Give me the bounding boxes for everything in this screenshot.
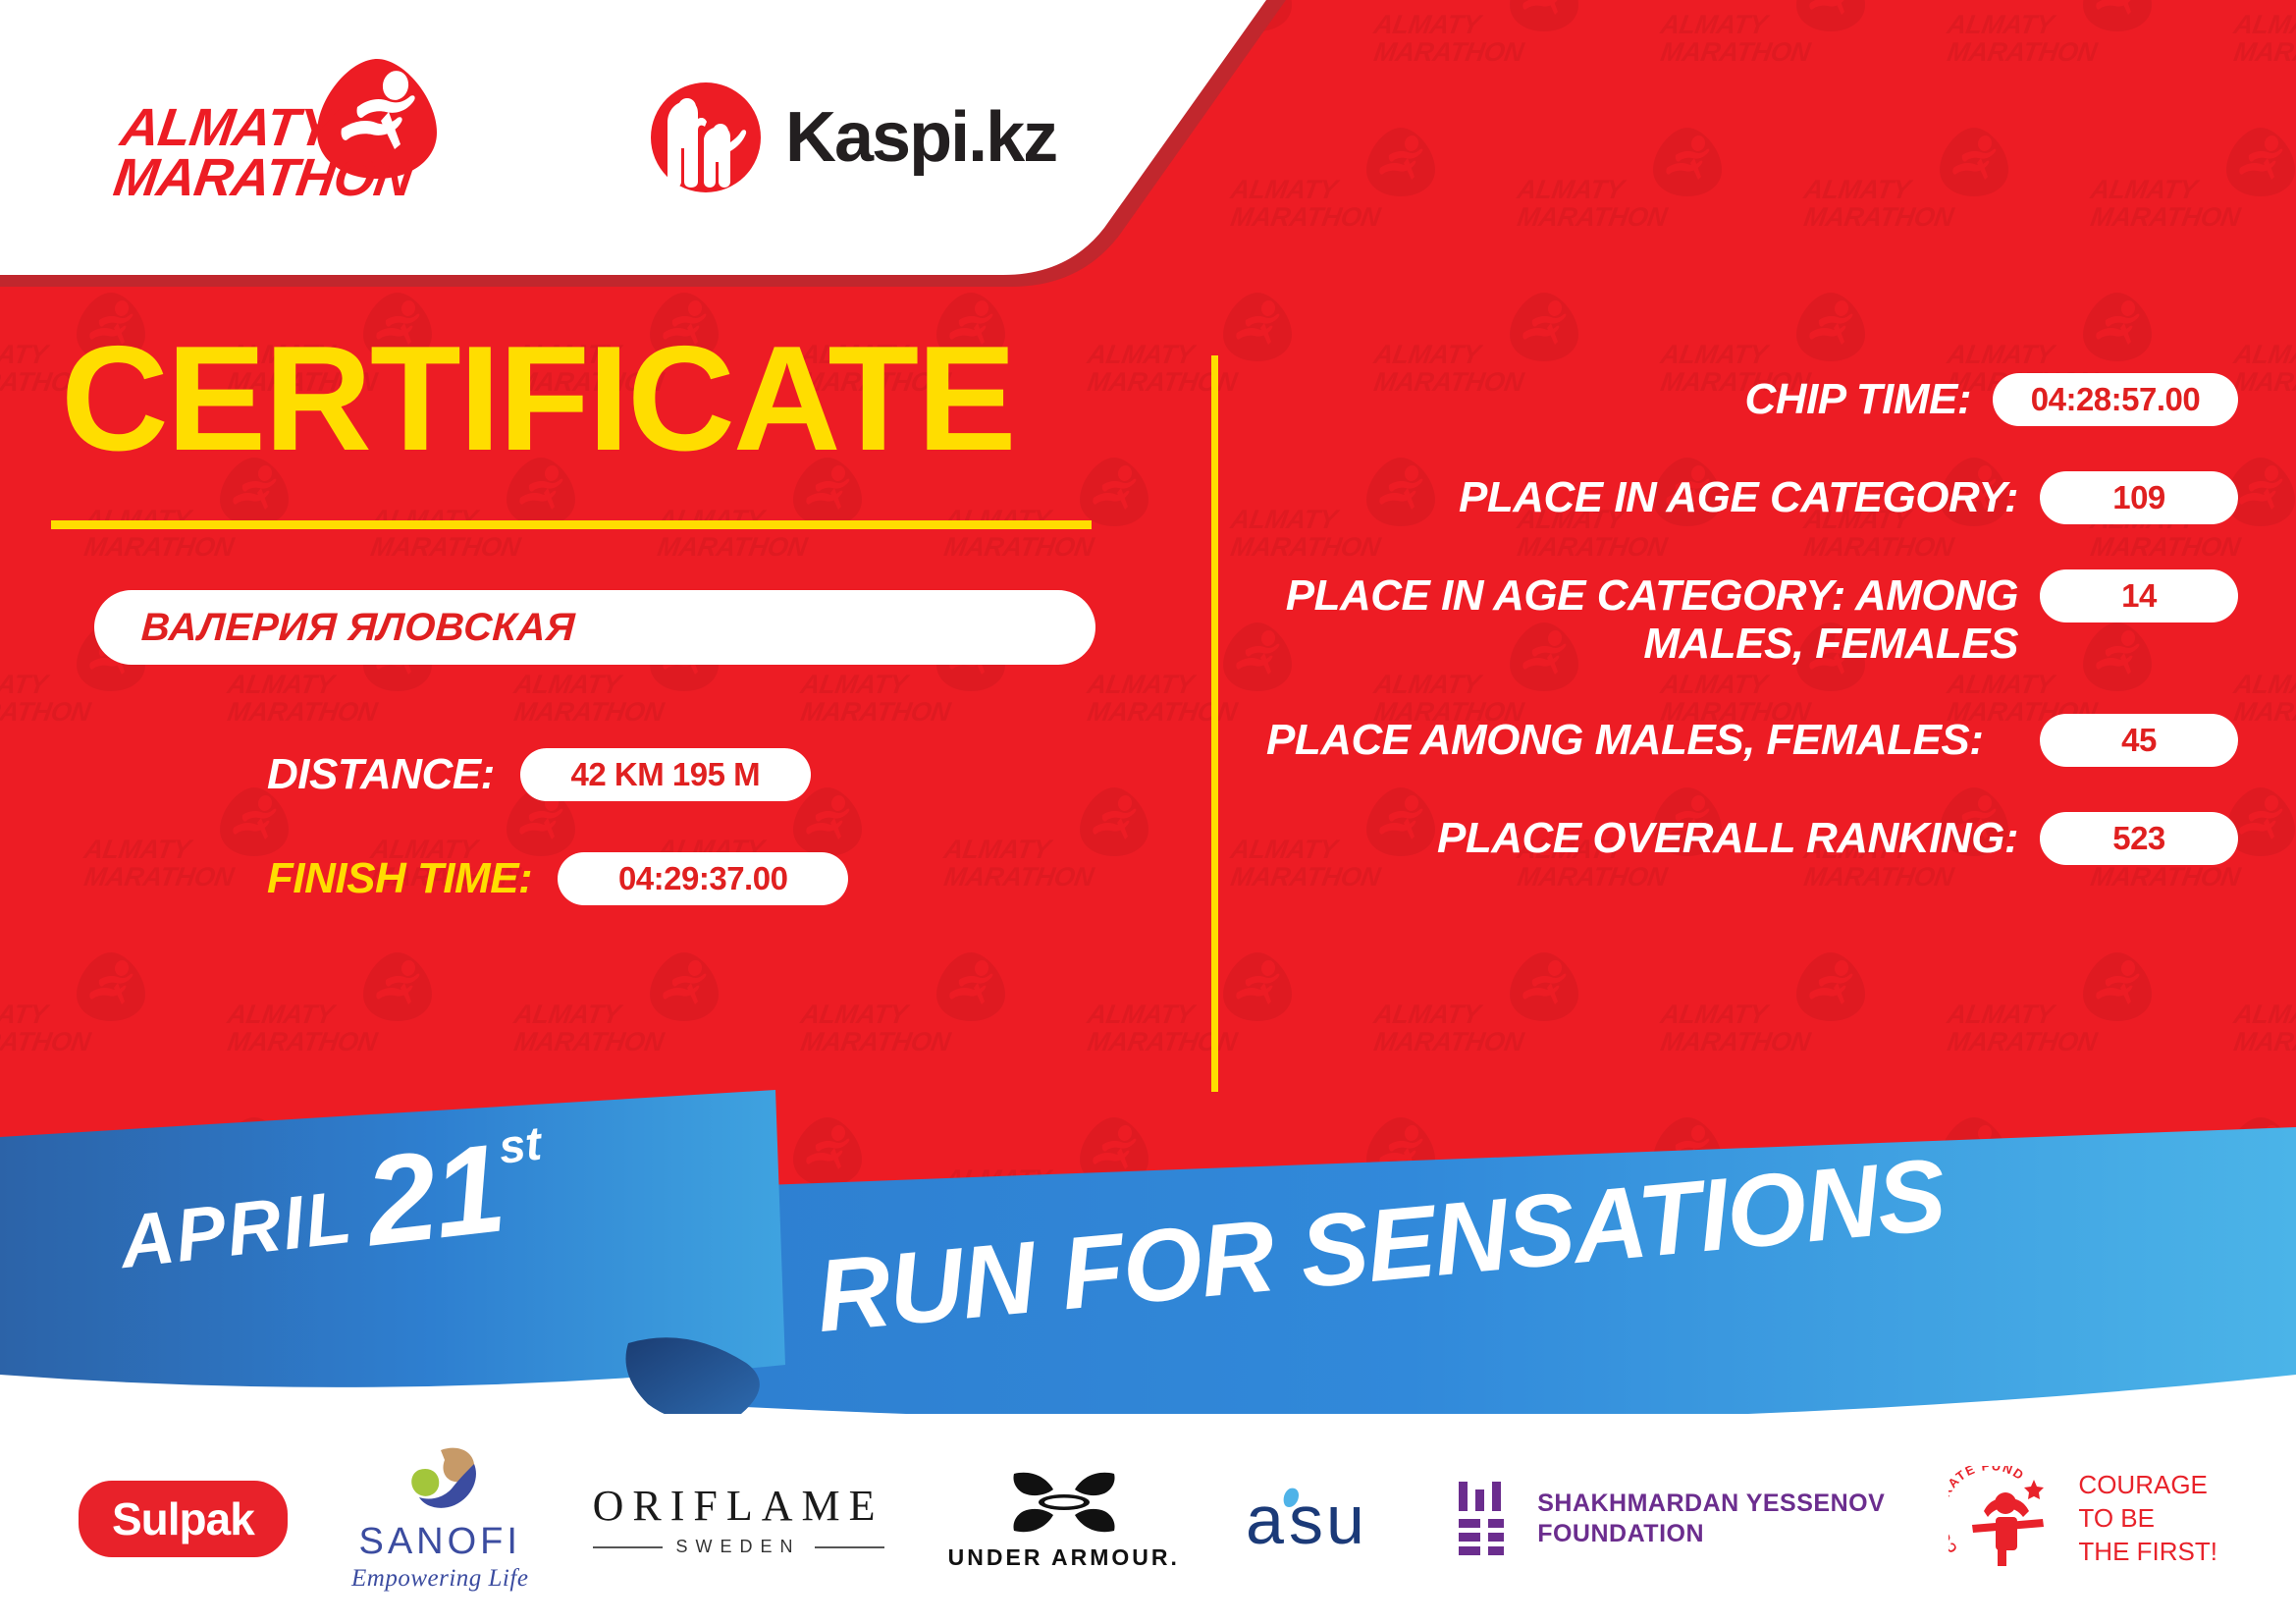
result-row-label: PLACE IN AGE CATEGORY: AMONG MALES, FEMA… xyxy=(1266,569,2040,669)
watermark-line-1: ALMATY xyxy=(1372,12,1482,38)
sulpak-wordmark: Sulpak xyxy=(112,1492,254,1545)
result-row-label: PLACE IN AGE CATEGORY: xyxy=(1266,471,2040,521)
watermark-line-1: ALMATY xyxy=(1086,1001,1196,1028)
certificate-row-label: FINISH TIME: xyxy=(267,854,532,903)
watermark-drop-icon xyxy=(1364,126,1437,198)
logo-line-almaty: ALMATY xyxy=(118,103,422,153)
watermark-line-1: ALMATY xyxy=(1516,177,1626,203)
watermark-line-2: MARATHON xyxy=(1946,39,2099,66)
watermark-line-2: MARATHON xyxy=(1659,1029,1812,1056)
watermark-tile: ALMATYMARATHON xyxy=(1374,950,1580,1066)
sanofi-bird-icon xyxy=(398,1446,482,1519)
event-day: 21 xyxy=(361,1135,508,1257)
result-row: PLACE OVERALL RANKING:523 xyxy=(1266,812,2238,865)
watermark-line-2: MARATHON xyxy=(1946,1029,2099,1056)
result-row-pill: 14 xyxy=(2040,569,2238,623)
watermark-line-1: ALMATY xyxy=(2232,342,2296,368)
logo-line-marathon: MARATHON xyxy=(111,153,415,203)
yessenov-line-1: SHAKHMARDAN YESSENOV xyxy=(1537,1489,1885,1519)
page-title: CERTIFICATE xyxy=(61,324,1158,473)
watermark-drop-icon xyxy=(1794,291,1867,363)
result-row: CHIP TIME:04:28:57.00 xyxy=(1266,373,2238,426)
certificate-row-pill: 42 KM 195 M xyxy=(520,748,811,801)
watermark-line-1: ALMATY xyxy=(0,1001,49,1028)
result-row-value: 109 xyxy=(2112,479,2165,516)
oriflame-wordmark: ORIFLAME xyxy=(593,1481,884,1531)
watermark-tile: ALMATYMARATHON xyxy=(1661,0,1867,77)
watermark-drop-icon xyxy=(934,950,1007,1023)
certificate-row-value: 04:29:37.00 xyxy=(618,860,787,897)
watermark-line-2: MARATHON xyxy=(799,1029,952,1056)
watermark-drop-icon xyxy=(2224,126,2296,198)
watermark-line-1: ALMATY xyxy=(799,1001,909,1028)
participant-name-value: ВАЛЕРИЯ ЯЛОВСКАЯ xyxy=(140,606,576,650)
watermark-line-2: MARATHON xyxy=(1802,204,1955,231)
almaty-marathon-wordmark: ALMATY MARATHON xyxy=(111,103,422,203)
watermark-drop-icon xyxy=(1938,126,2010,198)
sponsor-logo-oriflame: ORIFLAME SWEDEN xyxy=(593,1481,884,1557)
result-row-pill: 109 xyxy=(2040,471,2238,524)
watermark-line-1: ALMATY xyxy=(1946,342,2056,368)
watermark-drop-icon xyxy=(75,950,147,1023)
watermark-line-2: MARATHON xyxy=(1372,1029,1525,1056)
watermark-drop-icon xyxy=(1221,950,1294,1023)
courage-line-3: THE FIRST! xyxy=(2078,1536,2217,1569)
watermark-line-2: MARATHON xyxy=(1372,39,1525,66)
watermark-line-2: MARATHON xyxy=(1659,39,1812,66)
certificate-row: DISTANCE:42 KM 195 M xyxy=(0,748,1158,801)
result-row: PLACE IN AGE CATEGORY: AMONG MALES, FEMA… xyxy=(1266,569,2238,669)
watermark-drop-icon xyxy=(2081,0,2154,33)
watermark-line-1: ALMATY xyxy=(1802,177,1912,203)
watermark-drop-icon xyxy=(2081,291,2154,363)
kaspi-logo: Kaspi.kz xyxy=(648,80,1056,195)
courage-line-2: TO BE xyxy=(2078,1502,2217,1536)
watermark-line-1: ALMATY xyxy=(1946,12,2056,38)
watermark-tile: ALMATYMARATHON xyxy=(514,950,721,1066)
watermark-tile: ALMATYMARATHON xyxy=(1518,126,1724,242)
results-panel: CHIP TIME:04:28:57.00PLACE IN AGE CATEGO… xyxy=(1266,373,2238,910)
courage-runner-icon: CORPORATE FUND xyxy=(1949,1466,2064,1572)
watermark-line-2: MARATHON xyxy=(226,1029,379,1056)
watermark-drop-icon xyxy=(1794,950,1867,1023)
watermark-line-1: ALMATY xyxy=(512,1001,622,1028)
watermark-line-1: ALMATY xyxy=(2089,177,2199,203)
watermark-drop-icon xyxy=(2081,950,2154,1023)
event-day-suffix: st xyxy=(497,1116,545,1174)
sponsor-logo-yessenov: SHAKHMARDAN YESSENOV FOUNDATION xyxy=(1455,1478,1885,1560)
watermark-line-2: MARATHON xyxy=(2232,699,2296,726)
result-row-pill: 04:28:57.00 xyxy=(1993,373,2238,426)
watermark-line-2: MARATHON xyxy=(1516,204,1669,231)
result-row-pill: 523 xyxy=(2040,812,2238,865)
participant-name-field: ВАЛЕРИЯ ЯЛОВСКАЯ xyxy=(94,590,1095,665)
sponsor-logo-courage-fund: CORPORATE FUND COURAGE TO BE THE FIRST! xyxy=(1949,1466,2217,1572)
header-logos: ALMATY MARATHON Kaspi.kz xyxy=(0,0,1276,275)
watermark-line-1: ALMATY xyxy=(1659,342,1769,368)
oriflame-sub: SWEDEN xyxy=(676,1537,801,1557)
watermark-drop-icon xyxy=(1794,0,1867,33)
result-row-value: 14 xyxy=(2121,577,2157,615)
watermark-drop-icon xyxy=(1508,0,1580,33)
watermark-drop-icon xyxy=(1651,126,1724,198)
yessenov-line-2: FOUNDATION xyxy=(1537,1519,1885,1549)
watermark-line-1: ALMATY xyxy=(2232,672,2296,698)
result-row-label: PLACE OVERALL RANKING: xyxy=(1266,812,2040,862)
watermark-line-1: ALMATY xyxy=(1659,1001,1769,1028)
watermark-drop-icon xyxy=(1508,291,1580,363)
left-column: CERTIFICATE ВАЛЕРИЯ ЯЛОВСКАЯ DISTANCE:42… xyxy=(0,324,1158,956)
oriflame-rule-right xyxy=(815,1546,884,1548)
watermark-line-1: ALMATY xyxy=(2232,1001,2296,1028)
watermark-line-2: MARATHON xyxy=(2089,204,2242,231)
watermark-tile: ALMATYMARATHON xyxy=(0,950,147,1066)
result-row-value: 45 xyxy=(2121,722,2157,759)
almaty-marathon-logo: ALMATY MARATHON xyxy=(118,54,452,221)
svg-text:a: a xyxy=(1246,1482,1284,1558)
result-row-value: 523 xyxy=(2112,820,2165,857)
yessenov-bars-icon xyxy=(1455,1478,1516,1560)
watermark-drop-icon xyxy=(648,950,721,1023)
watermark-line-1: ALMATY xyxy=(1659,12,1769,38)
courage-line-1: COURAGE xyxy=(2078,1469,2217,1502)
watermark-tile: ALMATYMARATHON xyxy=(2234,950,2296,1066)
certificate-row-pill: 04:29:37.00 xyxy=(558,852,848,905)
certificate-detail-rows: DISTANCE:42 KM 195 MFINISH TIME:04:29:37… xyxy=(0,748,1158,905)
result-row: PLACE IN AGE CATEGORY:109 xyxy=(1266,471,2238,524)
result-row-label: PLACE AMONG MALES, FEMALES: xyxy=(1266,714,2040,764)
result-row: PLACE AMONG MALES, FEMALES:45 xyxy=(1266,714,2238,767)
watermark-tile: ALMATYMARATHON xyxy=(1088,950,1294,1066)
watermark-tile: ALMATYMARATHON xyxy=(1948,0,2154,77)
watermark-tile: ALMATYMARATHON xyxy=(1948,950,2154,1066)
watermark-line-1: ALMATY xyxy=(1372,1001,1482,1028)
under-armour-icon xyxy=(1006,1468,1122,1537)
watermark-tile: ALMATYMARATHON xyxy=(2234,291,2296,406)
certificate-canvas: ALMATYMARATHONALMATYMARATHONALMATYMARATH… xyxy=(0,0,2296,1624)
result-row-label: CHIP TIME: xyxy=(1266,373,1993,423)
watermark-line-2: MARATHON xyxy=(2232,39,2296,66)
under-armour-wordmark: UNDER ARMOUR. xyxy=(948,1544,1180,1571)
sponsor-logo-sulpak: Sulpak xyxy=(79,1481,288,1557)
watermark-line-2: MARATHON xyxy=(512,1029,666,1056)
sponsor-bar: Sulpak SANOFI Empowering Life ORIFLAME S… xyxy=(0,1414,2296,1624)
watermark-drop-icon xyxy=(361,950,434,1023)
watermark-line-2: MARATHON xyxy=(2232,1029,2296,1056)
watermark-tile: ALMATYMARATHON xyxy=(228,950,434,1066)
certificate-row: FINISH TIME:04:29:37.00 xyxy=(0,852,1158,905)
watermark-tile: ALMATYMARATHON xyxy=(2091,126,2296,242)
oriflame-sub-row: SWEDEN xyxy=(593,1537,884,1557)
watermark-line-1: ALMATY xyxy=(226,1001,336,1028)
asu-wordmark-icon: a s u xyxy=(1244,1479,1391,1559)
watermark-line-1: ALMATY xyxy=(1372,342,1482,368)
watermark-line-2: MARATHON xyxy=(2232,369,2296,396)
sponsor-logo-sanofi: SANOFI Empowering Life xyxy=(351,1446,528,1593)
certificate-row-value: 42 KM 195 M xyxy=(571,756,761,793)
result-row-pill: 45 xyxy=(2040,714,2238,767)
watermark-tile: ALMATYMARATHON xyxy=(1661,950,1867,1066)
sanofi-tagline: Empowering Life xyxy=(351,1565,528,1593)
result-row-value: 04:28:57.00 xyxy=(2031,381,2200,418)
watermark-drop-icon xyxy=(1221,291,1294,363)
yessenov-wordmark: SHAKHMARDAN YESSENOV FOUNDATION xyxy=(1537,1489,1885,1550)
certificate-row-label: DISTANCE: xyxy=(267,750,495,799)
watermark-tile: ALMATYMARATHON xyxy=(2234,0,2296,77)
watermark-drop-icon xyxy=(1508,950,1580,1023)
title-divider-rule xyxy=(51,520,1092,529)
courage-wordmark: COURAGE TO BE THE FIRST! xyxy=(2078,1469,2217,1568)
column-divider xyxy=(1211,355,1218,1092)
svg-text:u: u xyxy=(1326,1482,1364,1558)
watermark-line-1: ALMATY xyxy=(2232,12,2296,38)
kaspi-people-circle-icon xyxy=(648,80,764,195)
sponsor-logo-under-armour: UNDER ARMOUR. xyxy=(948,1468,1180,1571)
watermark-tile: ALMATYMARATHON xyxy=(1804,126,2010,242)
sponsor-logo-asu: a s u xyxy=(1244,1479,1391,1559)
kaspi-wordmark: Kaspi.kz xyxy=(785,97,1056,178)
watermark-tile: ALMATYMARATHON xyxy=(1374,0,1580,77)
watermark-line-2: MARATHON xyxy=(0,1029,92,1056)
sanofi-wordmark: SANOFI xyxy=(358,1521,520,1563)
watermark-tile: ALMATYMARATHON xyxy=(801,950,1007,1066)
oriflame-rule-left xyxy=(593,1546,663,1548)
watermark-line-1: ALMATY xyxy=(1946,1001,2056,1028)
watermark-tile: ALMATYMARATHON xyxy=(2234,621,2296,736)
